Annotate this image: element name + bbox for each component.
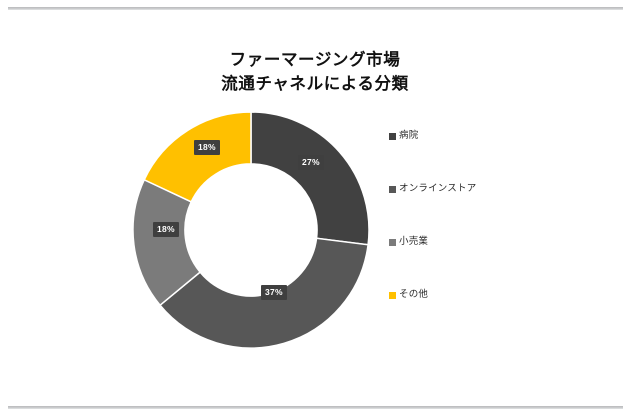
legend-swatch-icon-3	[389, 292, 396, 299]
legend-item-hospital[interactable]: 病院	[389, 129, 589, 143]
legend-label-2: 小売業	[399, 236, 428, 248]
legend-item-online-store[interactable]: オンラインストア	[389, 182, 589, 196]
legend-label-0: 病院	[399, 130, 418, 142]
chart-screenshot: ファーマージング市場 流通チャネルによる分類 27% 37% 18% 18% 病…	[0, 0, 631, 417]
slice-label-1: 37%	[261, 285, 287, 300]
legend-swatch-icon-2	[389, 239, 396, 246]
legend-swatch-icon-0	[389, 133, 396, 140]
legend-label-3: その他	[399, 289, 428, 301]
legend-item-retail[interactable]: 小売業	[389, 235, 589, 249]
slice-label-3: 18%	[194, 140, 220, 155]
legend-item-other[interactable]: その他	[389, 288, 589, 302]
chart-legend: 病院 オンラインストア 小売業 その他	[389, 129, 589, 341]
legend-swatch-icon-1	[389, 186, 396, 193]
frame-bottom-divider	[8, 406, 623, 409]
chart-title: ファーマージング市場 流通チャネルによる分類	[150, 48, 480, 96]
slice-label-0: 27%	[298, 155, 324, 170]
donut-chart: 27% 37% 18% 18%	[131, 110, 371, 350]
donut-slice-0[interactable]	[251, 112, 369, 245]
legend-label-1: オンラインストア	[399, 183, 476, 195]
frame-top-divider	[8, 7, 623, 10]
slice-label-2: 18%	[153, 222, 179, 237]
